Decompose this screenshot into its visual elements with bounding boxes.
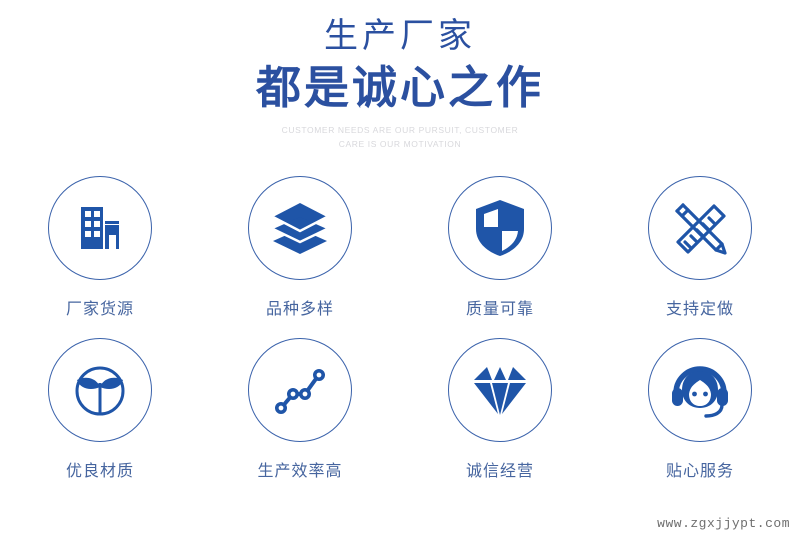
feature-label: 优良材质 [66,462,134,482]
sprout-leaf-icon [71,361,129,419]
feature-label: 厂家货源 [66,300,134,320]
feature-label: 支持定做 [666,300,734,320]
header: 生产厂家 都是诚心之作 CUSTOMER NEEDS ARE OUR PURSU… [0,14,800,151]
feature-label: 诚信经营 [466,462,534,482]
line-chart-icon [271,361,329,419]
feature-item-efficiency: 生产效率高 [200,338,400,482]
site-watermark: www.zgxjjypt.com [657,516,790,531]
icon-circle [48,176,152,280]
icon-circle [448,176,552,280]
factory-building-icon [71,199,129,257]
subtitle-line-1: CUSTOMER NEEDS ARE OUR PURSUIT, CUSTOMER [0,123,800,137]
feature-label: 生产效率高 [257,462,342,482]
feature-label: 品种多样 [266,300,334,320]
feature-label: 质量可靠 [466,300,534,320]
feature-item-material: 优良材质 [0,338,200,482]
icon-circle [248,338,352,442]
diamond-icon [470,362,530,418]
icon-circle [448,338,552,442]
feature-item-layers: 品种多样 [200,176,400,320]
feature-grid: 厂家货源 品种多样 [0,176,800,482]
page-title-line-1: 生产厂家 [0,14,800,58]
stacked-layers-icon [269,199,331,257]
promo-banner: 生产厂家 都是诚心之作 CUSTOMER NEEDS ARE OUR PURSU… [0,0,800,537]
subtitle-line-2: CARE IS OUR MOTIVATION [0,137,800,151]
feature-label: 贴心服务 [666,462,734,482]
feature-item-custom: 支持定做 [600,176,800,320]
icon-circle [48,338,152,442]
page-title-line-2: 都是诚心之作 [0,60,800,116]
icon-circle [248,176,352,280]
pencil-ruler-icon [670,198,730,258]
icon-circle [648,176,752,280]
headset-support-icon [670,361,730,419]
icon-circle [648,338,752,442]
feature-item-factory: 厂家货源 [0,176,200,320]
subtitle: CUSTOMER NEEDS ARE OUR PURSUIT, CUSTOMER… [0,123,800,151]
feature-item-integrity: 诚信经营 [400,338,600,482]
feature-item-shield: 质量可靠 [400,176,600,320]
feature-item-service: 贴心服务 [600,338,800,482]
shield-icon [474,198,526,258]
